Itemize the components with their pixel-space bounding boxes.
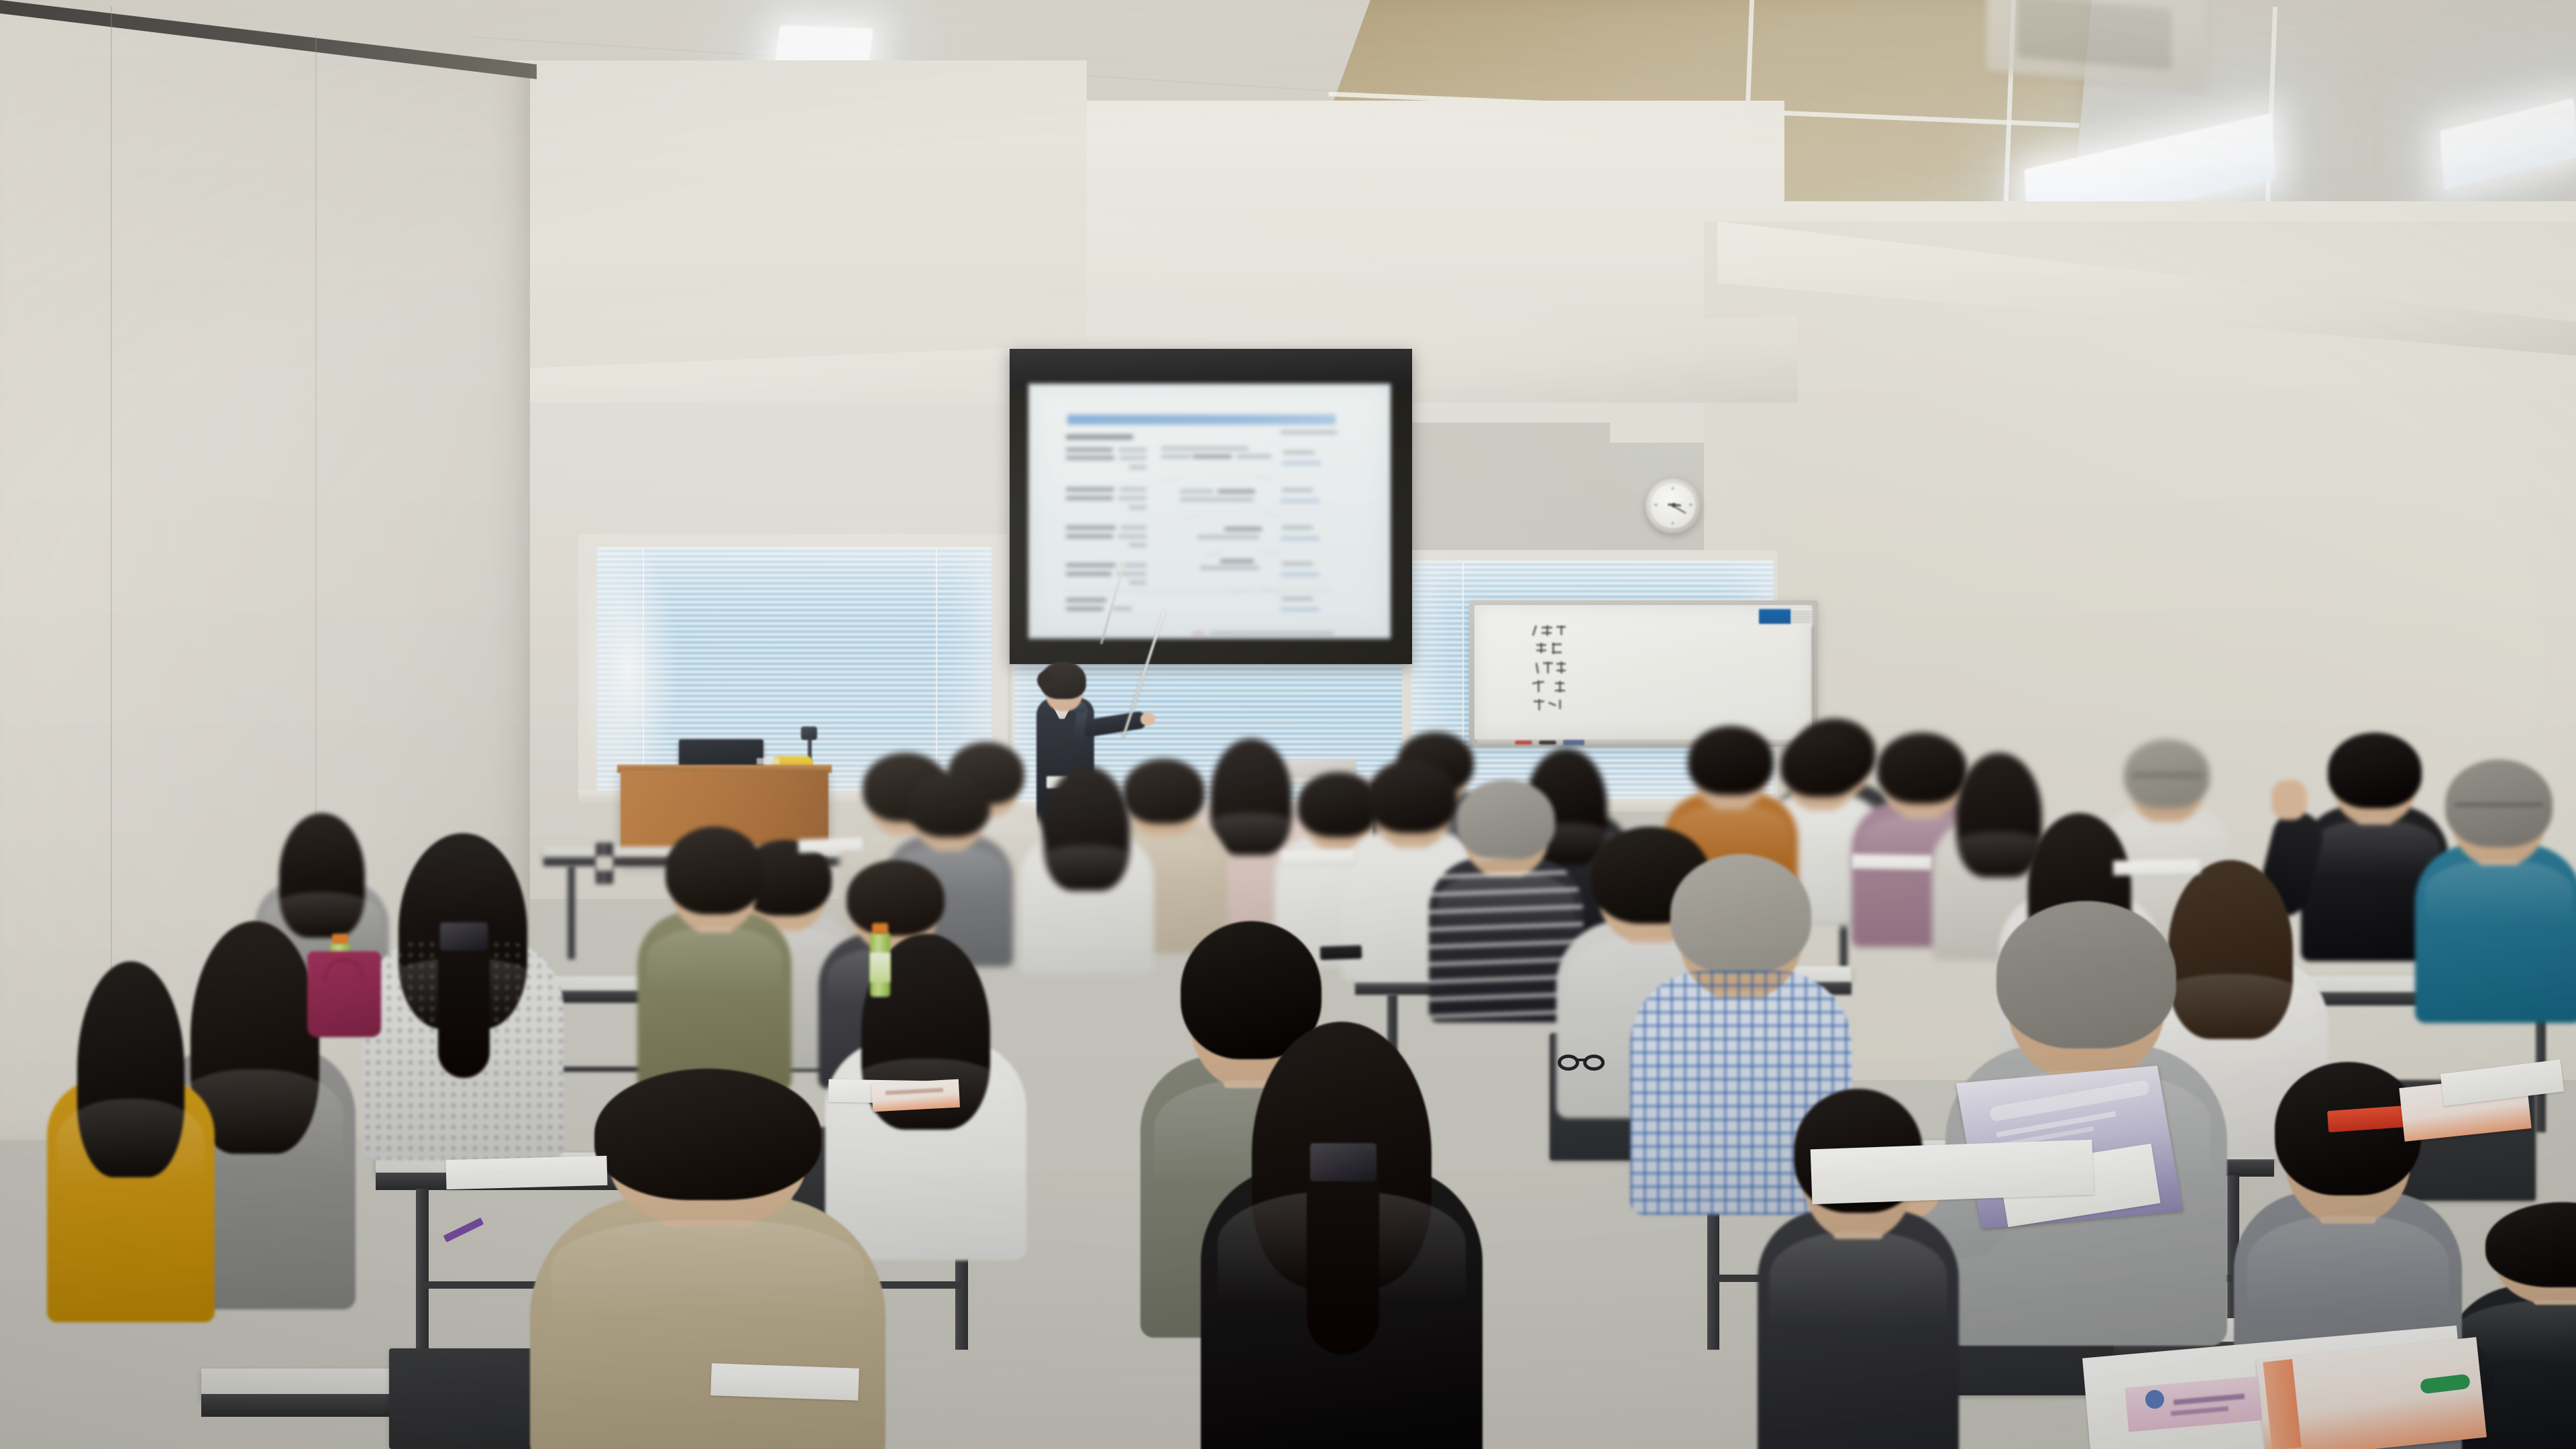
hair-clip [1310, 1143, 1377, 1181]
audience-hair [1670, 854, 1812, 974]
hair-ponytail [1307, 1157, 1379, 1354]
seminar-room-photo: Seminar room lecture photograph Japanese… [0, 0, 2576, 1449]
audience-shoulder-highlight [1028, 845, 1146, 898]
presenter-hand [1140, 712, 1155, 726]
slide-title-bar [1067, 415, 1336, 425]
smartphone-icon[interactable] [1320, 945, 1362, 960]
audience-hair [1688, 726, 1774, 795]
clock-center-pin [1672, 503, 1676, 507]
clock-tick [1672, 522, 1674, 525]
audience-hair [908, 772, 989, 837]
paper-sheet[interactable] [710, 1363, 859, 1401]
eyeglasses-icon[interactable] [1583, 1055, 1605, 1071]
eyeglasses-icon [2131, 774, 2203, 795]
slide-subtitle-text [1066, 435, 1133, 439]
desk-leg [416, 1189, 429, 1350]
pen[interactable] [443, 1218, 484, 1242]
paper-stack [798, 837, 863, 853]
hand [2271, 780, 2307, 820]
paper-stack[interactable] [1811, 1140, 2094, 1205]
bottle-cap[interactable] [332, 934, 348, 944]
audience-shoulder-highlight [2247, 1216, 2448, 1317]
whiteboard-eraser[interactable] [1563, 740, 1585, 745]
audience-hair [1996, 901, 2176, 1049]
whiteboard-marker-black[interactable] [1539, 741, 1556, 745]
presenter-hair-bun [1037, 671, 1055, 690]
desk-leg [568, 865, 575, 959]
bottle-label [870, 953, 890, 982]
hair-clip [440, 922, 488, 950]
orange-booklet[interactable] [871, 1079, 960, 1112]
eyeglasses-bridge [1578, 1059, 1586, 1061]
audience-member [2415, 758, 2576, 1013]
audience-hair [2445, 759, 2553, 847]
clock-tick [1689, 504, 1693, 506]
paper-stack [2113, 859, 2200, 875]
projection-screen-housing [1010, 349, 1412, 389]
podium-papers [757, 758, 780, 765]
projection-screen-surface [1028, 384, 1391, 639]
clock-tick [1672, 487, 1674, 490]
audience-hair [665, 826, 764, 914]
paper-stack [1851, 854, 1932, 870]
audience-hair [2328, 733, 2422, 809]
audience-hair [594, 1069, 821, 1200]
clock-tick [1654, 504, 1658, 506]
audience-member [1201, 1020, 1483, 1449]
audience-shoulder-highlight [647, 927, 782, 994]
whiteboard-sign-text [1791, 609, 1813, 624]
audience-shoulder-highlight [551, 1220, 864, 1319]
audience-member [47, 959, 215, 1308]
audience-member [1758, 1087, 1959, 1449]
audience-shoulder-highlight [57, 1099, 205, 1189]
whiteboard-blue-sign [1759, 609, 1791, 624]
paper-sheet[interactable] [445, 1156, 607, 1189]
hair-ponytail [438, 932, 490, 1077]
audience-member [1020, 765, 1154, 966]
audience-member [637, 825, 792, 1080]
audience-hair [1457, 780, 1556, 860]
eyeglasses-icon [2454, 804, 2544, 830]
audience-shoulder-highlight [2425, 860, 2573, 926]
audience-hair [847, 860, 945, 936]
document-blue-logo-icon [2145, 1390, 2164, 1409]
whiteboard-marker-red[interactable] [1515, 741, 1532, 745]
paper-stack [1281, 850, 1355, 865]
whiteboard-pointer-pole[interactable] [1811, 627, 1814, 721]
eyeglasses-icon[interactable] [1558, 1055, 1579, 1071]
whiteboard [1474, 605, 1812, 739]
bottle-cap[interactable] [872, 923, 888, 934]
coffee-can-label [596, 856, 613, 871]
microphone-icon [801, 727, 817, 740]
audience-shoulder-highlight [1770, 1232, 1947, 1326]
